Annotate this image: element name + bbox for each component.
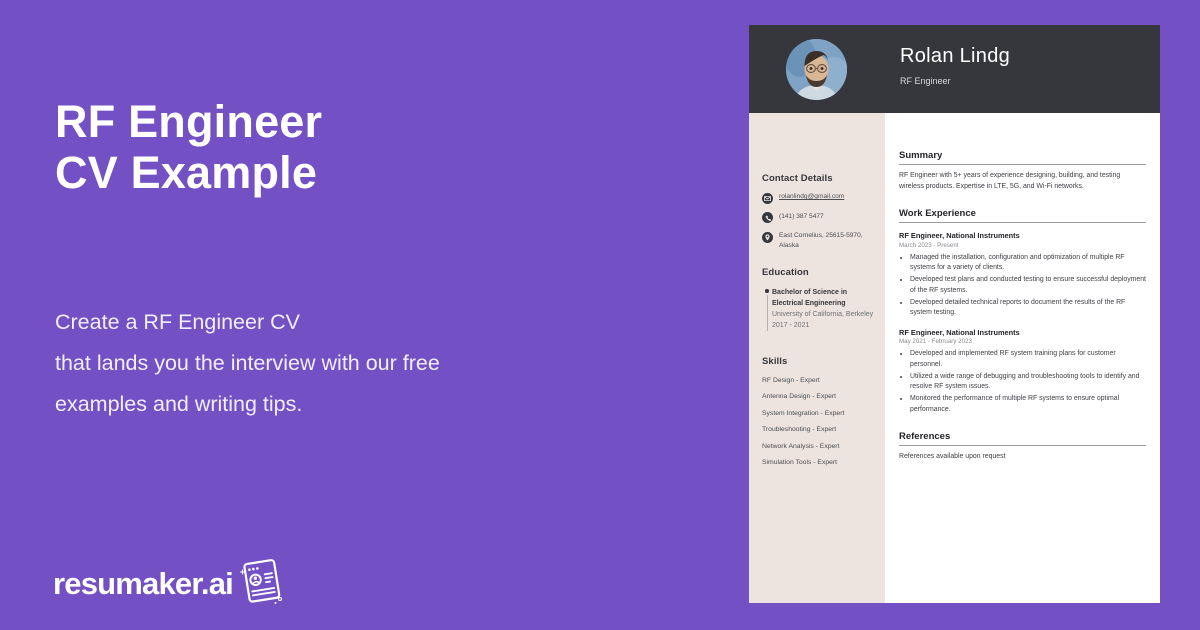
resume-preview-card[interactable]: Rolan Lindg RF Engineer Contact Details … xyxy=(749,25,1160,603)
job-dates: March 2023 - Present xyxy=(899,242,1146,249)
contact-item-email[interactable]: rolanlindg@gmail.com xyxy=(762,192,880,204)
job-bullet: Monitored the performance of multiple RF… xyxy=(910,394,1146,415)
summary-heading: Summary xyxy=(899,150,1146,165)
promo-subtitle-line3: examples and writing tips. xyxy=(55,384,695,425)
contact-address-value: East Cornelius, 25615-5970, Alaska xyxy=(779,231,880,251)
job-bullet: Managed the installation, configuration … xyxy=(910,253,1146,274)
job-bullet: Developed detailed technical reports to … xyxy=(910,298,1146,319)
logo-wordmark: resumaker.ai xyxy=(53,566,233,602)
job-entry: RF Engineer, National Instruments March … xyxy=(899,231,1146,319)
job-title: RF Engineer, National Instruments xyxy=(899,328,1146,337)
education-bullet-marker xyxy=(762,287,772,331)
promo-title-line1: RF Engineer xyxy=(55,96,695,147)
education-entry: Bachelor of Science in Electrical Engine… xyxy=(762,287,880,331)
education-section: Education Bachelor of Science in Electri… xyxy=(762,267,880,331)
job-title: RF Engineer, National Instruments xyxy=(899,231,1146,240)
skill-item: Antenna Design - Expert xyxy=(762,393,880,400)
references-heading: References xyxy=(899,431,1146,446)
skill-item: Simulation Tools - Expert xyxy=(762,459,880,466)
job-entry: RF Engineer, National Instruments May 20… xyxy=(899,328,1146,416)
work-experience-heading: Work Experience xyxy=(899,208,1146,223)
job-bullet: Developed and implemented RF system trai… xyxy=(910,349,1146,370)
envelope-icon xyxy=(762,193,773,204)
resume-job-title: RF Engineer xyxy=(900,76,951,86)
job-bullet: Developed test plans and conducted testi… xyxy=(910,275,1146,296)
skill-item: System Integration - Expert xyxy=(762,410,880,417)
work-experience-section: Work Experience RF Engineer, National In… xyxy=(899,208,1146,417)
references-text: References available upon request xyxy=(899,452,1146,463)
contact-email-value[interactable]: rolanlindg@gmail.com xyxy=(779,192,844,202)
job-bullet: Utilized a wide range of debugging and t… xyxy=(910,372,1146,393)
skill-item: Network Analysis - Expert xyxy=(762,443,880,450)
contact-item-phone: (141) 387 5477 xyxy=(762,212,880,224)
phone-icon xyxy=(762,212,773,223)
education-school: University of California, Berkeley xyxy=(772,309,880,320)
summary-section: Summary RF Engineer with 5+ years of exp… xyxy=(899,150,1146,192)
promo-subtitle-line2: that lands you the interview with our fr… xyxy=(55,343,695,384)
contact-item-address: East Cornelius, 25615-5970, Alaska xyxy=(762,231,880,251)
education-dates: 2017 - 2021 xyxy=(772,320,880,331)
location-pin-icon xyxy=(762,232,773,243)
skill-item: Troubleshooting - Expert xyxy=(762,426,880,433)
resume-name: Rolan Lindg xyxy=(900,45,1010,68)
resumaker-logo[interactable]: resumaker.ai xyxy=(53,557,283,610)
summary-text: RF Engineer with 5+ years of experience … xyxy=(899,171,1146,192)
promo-heading: RF Engineer CV Example xyxy=(55,96,695,198)
contact-details-section: Contact Details rolanlindg@gmail.com (14… xyxy=(762,173,880,251)
skills-section: Skills RF Design - Expert Antenna Design… xyxy=(762,356,880,466)
skill-item: RF Design - Expert xyxy=(762,377,880,384)
promo-title-line2: CV Example xyxy=(55,147,695,198)
job-dates: May 2021 - February 2023 xyxy=(899,338,1146,345)
contact-phone-value: (141) 387 5477 xyxy=(779,212,824,222)
avatar xyxy=(786,39,847,100)
resume-document-icon xyxy=(237,557,283,610)
references-section: References References available upon req… xyxy=(899,431,1146,463)
promo-subtitle: Create a RF Engineer CV that lands you t… xyxy=(55,302,695,425)
promo-subtitle-line1: Create a RF Engineer CV xyxy=(55,302,695,343)
education-degree: Bachelor of Science in Electrical Engine… xyxy=(772,287,880,309)
skills-heading: Skills xyxy=(762,356,880,367)
contact-details-heading: Contact Details xyxy=(762,173,880,184)
education-heading: Education xyxy=(762,267,880,278)
